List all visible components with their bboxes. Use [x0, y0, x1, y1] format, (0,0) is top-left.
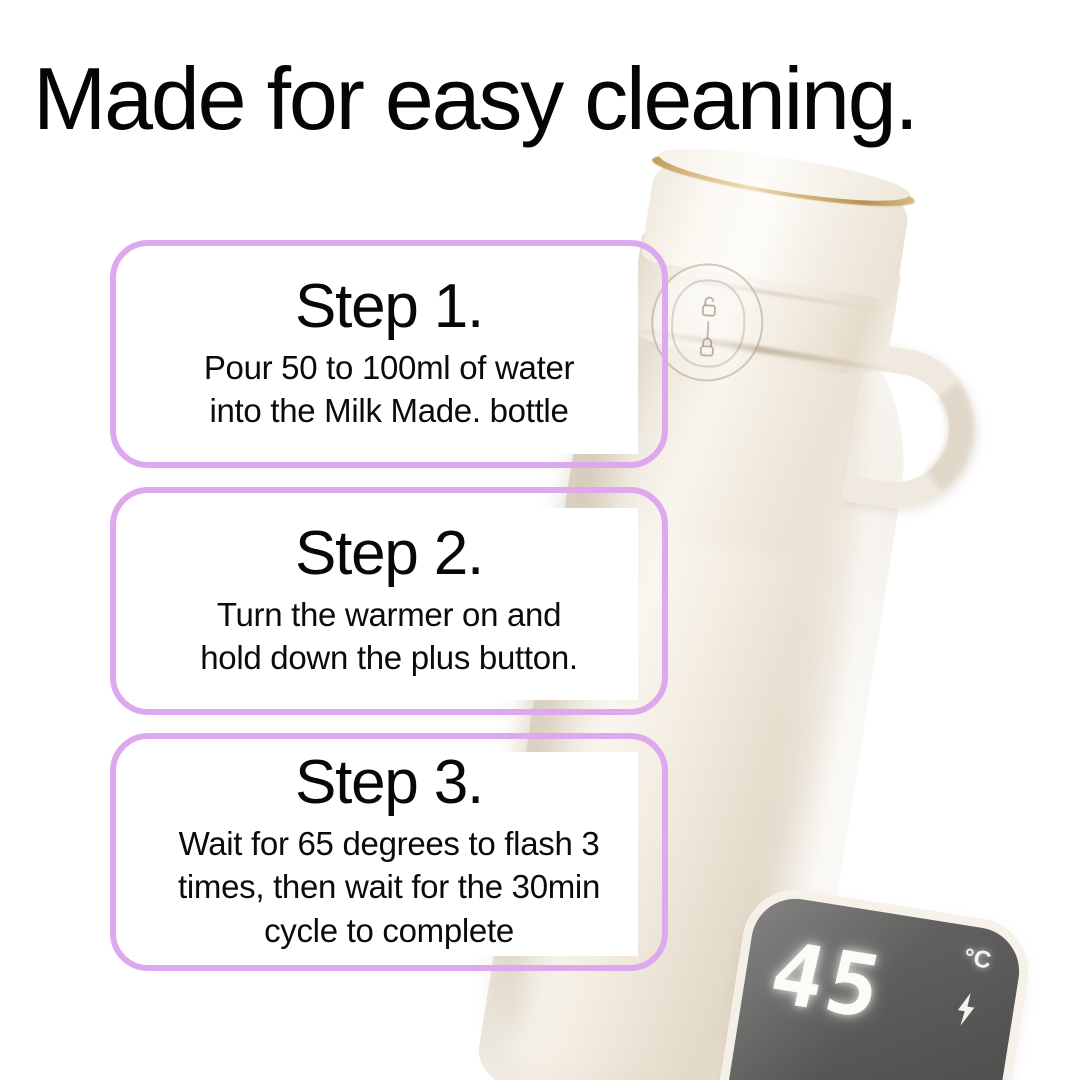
control-panel[interactable]: 45 °C: [720, 893, 1026, 1080]
step-3-line-1: Wait for 65 degrees to flash 3: [178, 822, 600, 866]
step-2-line-1: Turn the warmer on and: [200, 593, 578, 637]
unlock-icon: [699, 295, 720, 318]
step-2-line-2: hold down the plus button.: [200, 636, 578, 680]
step-3-description: Wait for 65 degrees to flash 3 times, th…: [178, 822, 600, 953]
step-3-content: Step 3. Wait for 65 degrees to flash 3 t…: [116, 751, 662, 952]
step-1-line-2: into the Milk Made. bottle: [204, 389, 574, 433]
bottle-handle-loop: [841, 343, 987, 520]
step-3-title: Step 3.: [295, 751, 483, 815]
bottle-gold-rim: [650, 145, 917, 216]
step-card-3: Step 3. Wait for 65 degrees to flash 3 t…: [110, 733, 668, 971]
bottle-cap: [640, 154, 912, 301]
step-1-description: Pour 50 to 100ml of water into the Milk …: [204, 346, 574, 433]
step-2-description: Turn the warmer on and hold down the plu…: [200, 593, 578, 680]
step-1-line-1: Pour 50 to 100ml of water: [204, 346, 574, 390]
lightning-bolt-icon: [952, 991, 979, 1028]
bottle-handle-shadow: [843, 345, 984, 518]
step-1-title: Step 1.: [295, 275, 483, 339]
led-unit-label: °C: [962, 944, 993, 976]
step-3-line-2: times, then wait for the 30min: [178, 865, 600, 909]
bottle-cap-top: [656, 138, 912, 211]
step-1-content: Step 1. Pour 50 to 100ml of water into t…: [116, 275, 662, 433]
panel-gloss: [720, 893, 1026, 1080]
lock-indicator-ring: [669, 278, 748, 370]
bottle-cap-seam: [650, 272, 888, 313]
page-title: Made for easy cleaning.: [33, 55, 1053, 143]
poster-canvas: 45 °C Made for easy cleaning. Step 1.: [0, 0, 1080, 1080]
bottle-highlight: [733, 363, 916, 1066]
indicator-divider: [706, 321, 709, 339]
step-2-content: Step 2. Turn the warmer on and hold down…: [116, 522, 662, 680]
lock-icon: [696, 335, 717, 358]
step-3-line-3: cycle to complete: [178, 909, 600, 953]
led-temperature-readout: 45: [763, 931, 893, 1032]
step-2-title: Step 2.: [295, 522, 483, 586]
